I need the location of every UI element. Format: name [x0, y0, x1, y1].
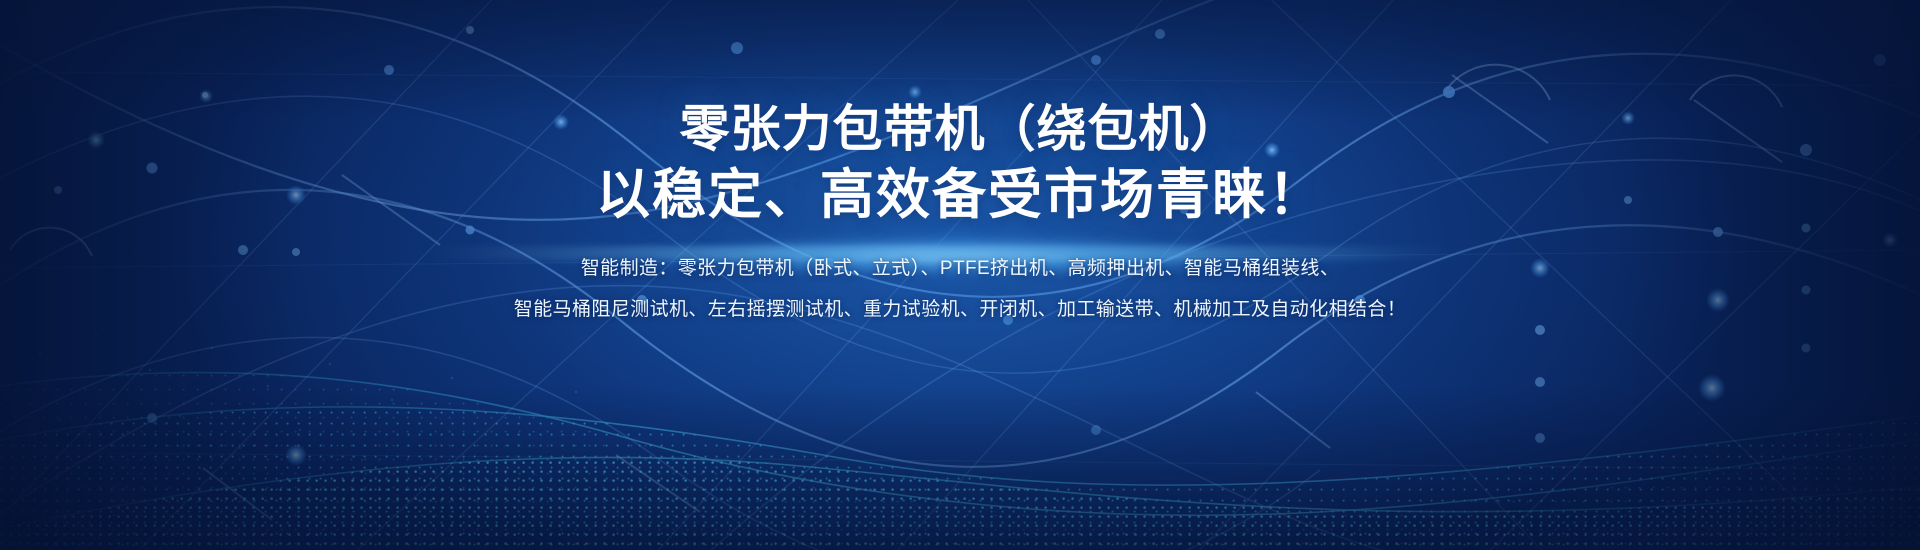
hero-banner: 零张力包带机（绕包机） 以稳定、高效备受市场青睐！ 智能制造：零张力包带机（卧式…: [0, 0, 1920, 550]
headline-line-2: 以稳定、高效备受市场青睐！: [596, 162, 1324, 228]
headline-line-1: 零张力包带机（绕包机）: [680, 96, 1241, 162]
banner-content: 零张力包带机（绕包机） 以稳定、高效备受市场青睐！ 智能制造：零张力包带机（卧式…: [0, 0, 1920, 550]
subtitle-line-2: 智能马桶阻尼测试机、左右摇摆测试机、重力试验机、开闭机、加工输送带、机械加工及自…: [514, 289, 1406, 330]
subtitle-line-1: 智能制造：零张力包带机（卧式、立式）、PTFE挤出机、高频押出机、智能马桶组装线…: [581, 248, 1339, 289]
